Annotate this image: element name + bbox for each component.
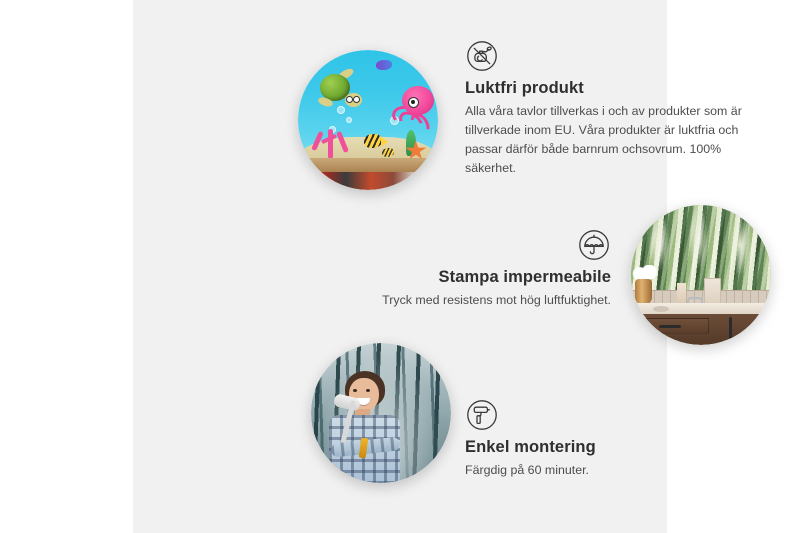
soap-dish — [653, 306, 669, 312]
feature-odour-free: Luktfri produkt Alla våra tavlor tillver… — [465, 39, 765, 177]
cabinet-handle — [756, 317, 759, 339]
yellow-fish-icon — [364, 134, 382, 148]
feature-title: Stampa impermeabile — [349, 268, 611, 287]
drawer-handle — [659, 325, 681, 328]
product-photo-woman-paint-roller-forest — [311, 343, 451, 483]
feature-description: Tryck med resistens mot hög luftfuktighe… — [349, 291, 611, 310]
content-panel: Luktfri produkt Alla våra tavlor tillver… — [133, 0, 667, 533]
product-photo-underwater-mural — [298, 50, 438, 190]
purple-fish-icon — [376, 60, 392, 70]
umbrella-icon — [577, 228, 611, 262]
woman-figure — [322, 371, 409, 483]
feature-title: Enkel montering — [465, 438, 745, 457]
cabinet-handle — [729, 317, 732, 339]
no-spray-bottle-icon — [465, 39, 499, 73]
feature-description: Färgdig på 60 minuter. — [465, 461, 745, 480]
towel — [704, 278, 721, 306]
small-fish-icon — [382, 148, 394, 157]
octopus-icon — [392, 86, 434, 126]
coral-icon — [312, 123, 352, 159]
feature-waterproof: Stampa impermeabile Tryck med resistens … — [349, 228, 611, 310]
feature-description: Alla våra tavlor tillverkas i och av pro… — [465, 102, 765, 177]
product-photo-bathroom-leaf-wallpaper — [631, 205, 771, 345]
underlying-photo-strip — [298, 172, 438, 190]
sea-turtle-icon — [318, 74, 362, 108]
product-feature-panel: Luktfri produkt Alla våra tavlor tillver… — [0, 0, 800, 533]
feature-easy-mounting: Enkel montering Färgdig på 60 minuter. — [465, 398, 745, 480]
paint-roller-icon — [465, 398, 499, 432]
vase — [635, 279, 652, 305]
eye — [366, 389, 370, 392]
feature-title: Luktfri produkt — [465, 79, 765, 98]
